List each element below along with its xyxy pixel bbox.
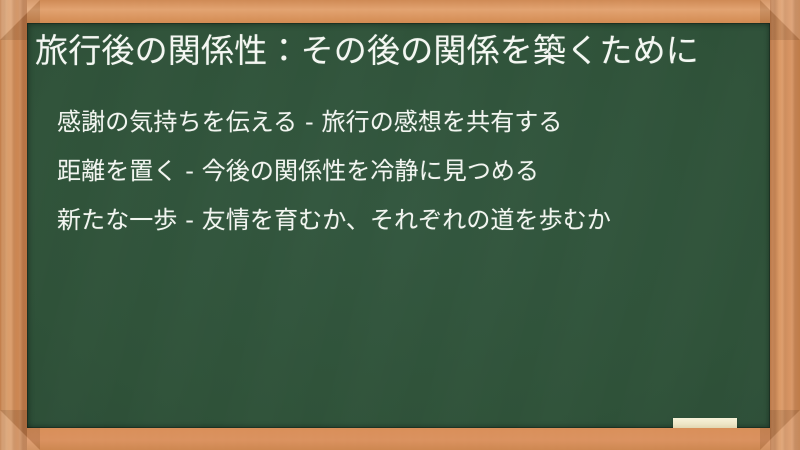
bullet-list: 感謝の気持ちを伝える - 旅行の感想を共有する 距離を置く - 今後の関係性を冷… bbox=[35, 107, 746, 237]
blackboard-slide: 旅行後の関係性：その後の関係を築くために 感謝の気持ちを伝える - 旅行の感想を… bbox=[0, 0, 800, 450]
slide-title: 旅行後の関係性：その後の関係を築くために bbox=[35, 30, 746, 73]
frame-top-rail bbox=[0, 0, 800, 24]
slide-content: 旅行後の関係性：その後の関係を築くために 感謝の気持ちを伝える - 旅行の感想を… bbox=[27, 23, 770, 428]
frame-bottom-rail bbox=[0, 426, 800, 450]
chalkboard-surface: 旅行後の関係性：その後の関係を築くために 感謝の気持ちを伝える - 旅行の感想を… bbox=[27, 23, 770, 428]
frame-left-rail bbox=[0, 0, 27, 450]
bullet-item-1: 感謝の気持ちを伝える - 旅行の感想を共有する bbox=[57, 107, 746, 138]
frame-right-rail bbox=[770, 0, 800, 450]
bullet-item-3: 新たな一歩 - 友情を育むか、それぞれの道を歩むか bbox=[57, 205, 746, 236]
chalk-eraser bbox=[673, 418, 737, 428]
bullet-item-2: 距離を置く - 今後の関係性を冷静に見つめる bbox=[57, 156, 746, 187]
